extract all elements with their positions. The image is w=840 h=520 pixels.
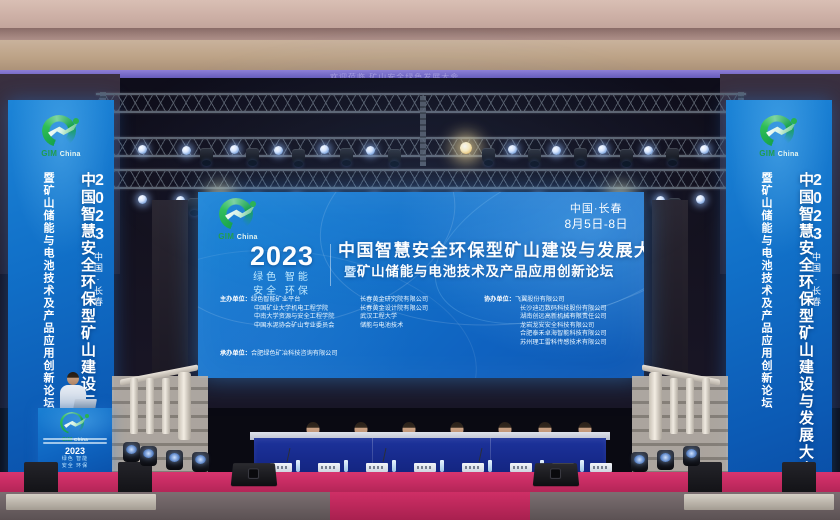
par-light <box>508 145 517 154</box>
moving-head-light <box>388 149 401 164</box>
screen-divider <box>330 244 331 286</box>
host-label: 主办单位： <box>220 296 251 305</box>
gim-logo-mark-icon <box>57 412 93 438</box>
par-light <box>696 195 705 204</box>
moving-head-light <box>620 149 633 164</box>
podium-year: 2023 <box>38 446 112 456</box>
gim-logo-text: GIM China <box>748 149 810 159</box>
stage-monitor-speaker <box>533 463 580 486</box>
par-light <box>138 195 147 204</box>
undertaker-name: 合肥绿色矿冶科技咨询有限公司 <box>251 350 338 357</box>
carpet-runner <box>330 492 530 520</box>
co-organizer-item: 长沙迪迈数码科技股份有限公司 <box>484 305 634 314</box>
name-card <box>318 463 340 472</box>
host-item: 储能与电池技术 <box>360 322 472 331</box>
upper-wall <box>0 40 840 74</box>
moving-head-light <box>200 148 213 163</box>
moving-head-light <box>292 149 305 164</box>
floor-moving-head-light <box>140 446 157 466</box>
floor-moving-head-light <box>192 452 209 472</box>
par-light <box>598 145 607 154</box>
gim-logo-mark-icon <box>36 114 86 150</box>
screen-title-sub-row: 暨矿山储能与电池技术及产品应用创新论坛 <box>338 262 636 282</box>
screen-title-sub-mark: 暨 <box>344 265 357 279</box>
host-item: 绿色智能矿业平台 <box>251 296 301 305</box>
par-light <box>138 145 147 154</box>
water-bottle <box>392 460 396 472</box>
par-light <box>366 146 375 155</box>
stage-monitor-speaker <box>231 463 278 486</box>
screen-year: 2023 <box>236 242 328 270</box>
co-organizer-item: 苏州理工雷科传感技术有限公司 <box>484 339 634 348</box>
gim-logo-text: GIM China <box>30 149 92 159</box>
lighting-truss-lower <box>96 168 746 190</box>
par-light <box>182 146 191 155</box>
par-light <box>230 145 239 154</box>
co-organizer-column: 协办单位：飞翼股份有限公司 长沙迪迈数码科技股份有限公司 湖南创远高新机械有限责… <box>484 296 634 348</box>
co-organizer-item: 合肥泰禾卓海智能科技有限公司 <box>484 330 634 339</box>
co-organizer-item: 飞翼股份有限公司 <box>515 296 565 305</box>
moving-head-light <box>528 149 541 164</box>
par-light <box>274 146 283 155</box>
host-item: 中国矿业大学机电工程学院 <box>220 305 348 314</box>
host-item: 中国水泥协会矿山专业委员会 <box>220 322 348 331</box>
host-column-2: 长春黄金研究院有限公司 长春黄金设计院有限公司 武汉工程大学 储能与电池技术 <box>360 296 472 348</box>
front-bench-right <box>684 494 834 510</box>
par-light-highlight <box>460 142 472 154</box>
truss-leg-center <box>420 96 426 166</box>
name-card <box>414 463 436 472</box>
co-organizer-item: 湖南创远高新机械有限责任公司 <box>484 313 634 322</box>
gim-logo-mark-icon <box>754 114 804 150</box>
screen-city: 中国·长春 <box>564 202 628 217</box>
moving-head-light <box>574 148 587 163</box>
host-item: 长春黄金研究院有限公司 <box>360 296 472 305</box>
water-bottle <box>580 460 584 472</box>
undertaker-label: 承办单位： <box>220 350 251 357</box>
moving-head-light <box>482 148 495 163</box>
host-item: 武汉工程大学 <box>360 313 472 322</box>
gim-china-logo: GIM China <box>206 197 270 247</box>
conference-stage-photo: 欢迎莅临 矿山安全绿色发展大会 <box>0 0 840 520</box>
par-light <box>644 146 653 155</box>
name-card <box>510 463 532 472</box>
floor-moving-head-light <box>166 450 183 470</box>
undertaker-row: 承办单位：合肥绿色矿冶科技咨询有限公司 <box>220 348 338 357</box>
name-card <box>462 463 484 472</box>
gim-logo-region: China <box>237 234 258 241</box>
moving-head-light <box>666 148 679 163</box>
floor-moving-head-light <box>631 452 648 472</box>
screen-date: 8月5日-8日 <box>564 217 628 232</box>
screen-title-block: 中国智慧安全环保型矿山建设与发展大会 暨矿山储能与电池技术及产品应用创新论坛 <box>338 240 636 282</box>
gim-logo-region: China <box>778 151 799 158</box>
water-bottle <box>296 460 300 472</box>
floor-moving-head-light <box>683 446 700 466</box>
water-bottle <box>440 460 444 472</box>
par-light <box>700 145 709 154</box>
gim-logo-mark-icon <box>213 197 263 233</box>
par-light <box>320 145 329 154</box>
water-bottle <box>344 460 348 472</box>
co-organizer-label: 协办单位： <box>484 296 515 305</box>
water-bottle <box>488 460 492 472</box>
main-led-screen: GIM China 中国·长春 8月5日-8日 2023 绿色 智能 安全 环保… <box>198 192 644 378</box>
moving-head-light <box>246 148 259 163</box>
gim-logo-region: China <box>60 151 81 158</box>
gim-logo-name: GIM <box>218 232 234 241</box>
moving-head-light <box>340 148 353 163</box>
name-card <box>366 463 388 472</box>
front-bench-left <box>6 494 156 510</box>
floor-moving-head-light <box>657 450 674 470</box>
screen-slogan-line1: 绿色 智能 <box>236 271 328 284</box>
screen-title-main: 中国智慧安全环保型矿山建设与发展大会 <box>338 240 636 262</box>
host-column-1: 主办单位：绿色智能矿业平台 中国矿业大学机电工程学院 中南大学资源与安全工程学院… <box>220 296 348 348</box>
host-item: 中南大学资源与安全工程学院 <box>220 313 348 322</box>
screen-year-block: 2023 绿色 智能 安全 环保 <box>236 242 328 298</box>
gim-logo-name: GIM <box>759 149 775 158</box>
organizers-block: 主办单位：绿色智能矿业平台 中国矿业大学机电工程学院 中南大学资源与安全工程学院… <box>220 296 634 348</box>
host-item: 长春黄金设计院有限公司 <box>360 305 472 314</box>
screen-place-block: 中国·长春 8月5日-8日 <box>564 202 628 232</box>
name-card <box>590 463 612 472</box>
gim-logo-name: GIM <box>41 149 57 158</box>
floor-moving-head-light <box>123 442 140 462</box>
par-light <box>552 146 561 155</box>
gim-china-logo: GIM China <box>30 114 92 159</box>
screen-title-sub: 矿山储能与电池技术及产品应用创新论坛 <box>357 264 614 279</box>
gim-china-logo: GIM China <box>748 114 810 159</box>
